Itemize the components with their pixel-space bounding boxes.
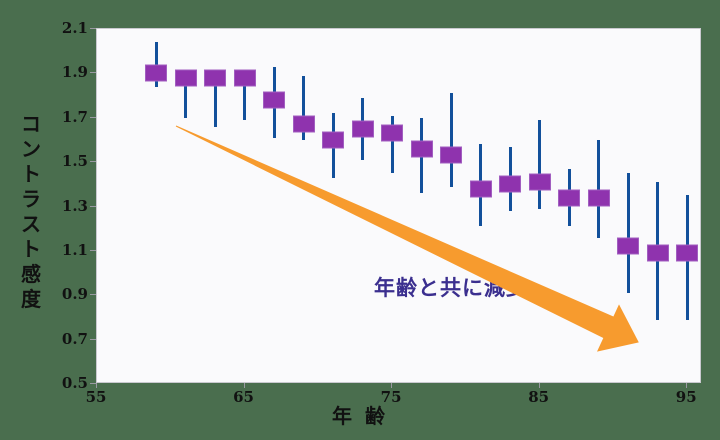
y-tick-label: 1.3 <box>46 197 88 215</box>
data-point-marker <box>588 189 610 206</box>
y-tick-label: 1.1 <box>46 241 88 259</box>
y-axis-title-char: 感 <box>10 262 52 287</box>
chart-figure: コントラスト感度 年 齢 0.50.70.91.11.31.51.71.92.1… <box>0 0 720 440</box>
x-tick-label: 85 <box>514 388 564 406</box>
data-point-marker <box>204 69 226 86</box>
data-point-marker <box>411 140 433 157</box>
data-point-marker <box>293 116 315 133</box>
data-point-marker <box>470 180 492 197</box>
data-point-marker <box>558 189 580 206</box>
y-tick-label: 1.7 <box>46 108 88 126</box>
data-point-marker <box>234 69 256 86</box>
plot-area: 年齢と共に減少 <box>96 28 701 383</box>
error-bar <box>538 120 541 209</box>
data-point-marker <box>676 245 698 262</box>
data-point-marker <box>617 238 639 255</box>
error-bar <box>627 173 630 293</box>
data-point-marker <box>529 174 551 191</box>
data-point-marker <box>381 125 403 142</box>
x-tick-label: 75 <box>366 388 416 406</box>
y-tick-label: 1.9 <box>46 63 88 81</box>
trend-annotation-label: 年齢と共に減少 <box>374 272 528 302</box>
data-point-marker <box>499 176 521 193</box>
y-tick-label: 0.9 <box>46 285 88 303</box>
data-point-marker <box>440 147 462 164</box>
x-tick-label: 55 <box>71 388 121 406</box>
data-point-marker <box>647 245 669 262</box>
x-tick-label: 95 <box>661 388 711 406</box>
y-tick-label: 2.1 <box>46 19 88 37</box>
error-bar <box>450 93 453 186</box>
y-axis-title-char: ス <box>10 212 52 237</box>
data-point-marker <box>352 120 374 137</box>
data-point-marker <box>145 65 167 82</box>
data-point-marker <box>263 92 285 109</box>
data-point-marker <box>322 131 344 148</box>
x-tick-label: 65 <box>219 388 269 406</box>
y-tick-label: 1.5 <box>46 152 88 170</box>
y-tick-label: 0.7 <box>46 330 88 348</box>
data-point-marker <box>175 69 197 86</box>
